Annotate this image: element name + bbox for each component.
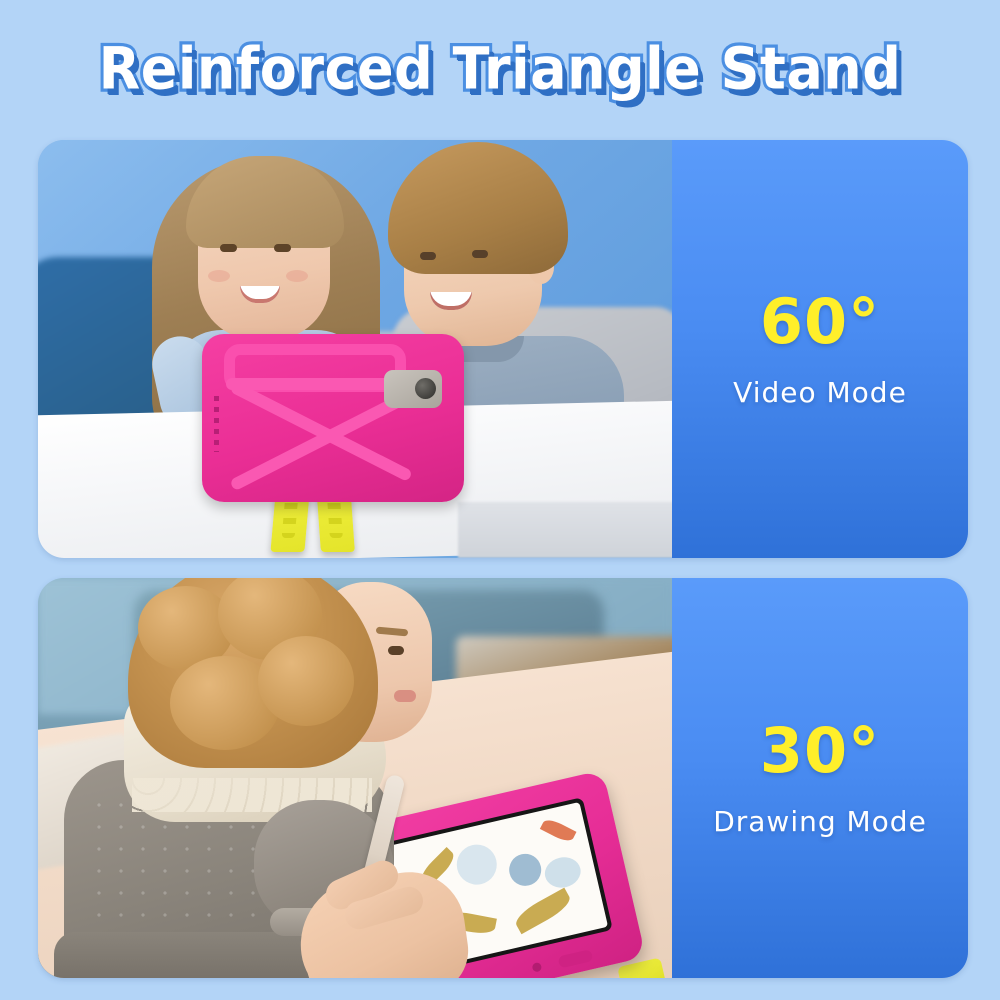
page-title: Reinforced Triangle Stand: [99, 34, 902, 102]
boy-eye-right: [472, 250, 488, 258]
artwork-leaf: [512, 888, 574, 935]
artwork-flower: [506, 851, 544, 889]
angle-value: 30°: [760, 720, 880, 782]
girl-eye-left: [220, 244, 237, 252]
mode-label: Video Mode: [733, 379, 907, 407]
mode-label: Drawing Mode: [713, 808, 927, 836]
feature-panel-drawing-mode: 30° Drawing Mode: [38, 578, 968, 978]
feature-panel-video-mode: 60° Video Mode: [38, 140, 968, 558]
case-button-cutout: [558, 949, 594, 968]
girl-cheek-right: [286, 270, 308, 282]
artwork-flower: [542, 854, 584, 891]
table-edge: [458, 502, 672, 558]
artwork-leaf: [540, 816, 577, 844]
product-photo-drawing-mode: [38, 578, 672, 978]
angle-value: 60°: [760, 291, 880, 353]
product-photo-video-mode: [38, 140, 672, 558]
case-speaker-vents: [214, 396, 219, 452]
page-title-container: Reinforced Triangle Stand: [0, 28, 1000, 108]
girl-lips: [394, 690, 416, 702]
info-block-drawing-mode: 30° Drawing Mode: [672, 578, 968, 978]
girl-cheek-left: [208, 270, 230, 282]
girl-eye: [388, 646, 404, 655]
info-block-video-mode: 60° Video Mode: [672, 140, 968, 558]
girl-hair-curl: [258, 636, 354, 726]
case-mic-hole: [532, 962, 543, 973]
camera-lens-icon: [415, 378, 436, 399]
boy-eye-left: [420, 252, 436, 260]
girl-eye-right: [274, 244, 291, 252]
tablet-case-back: [202, 334, 464, 502]
